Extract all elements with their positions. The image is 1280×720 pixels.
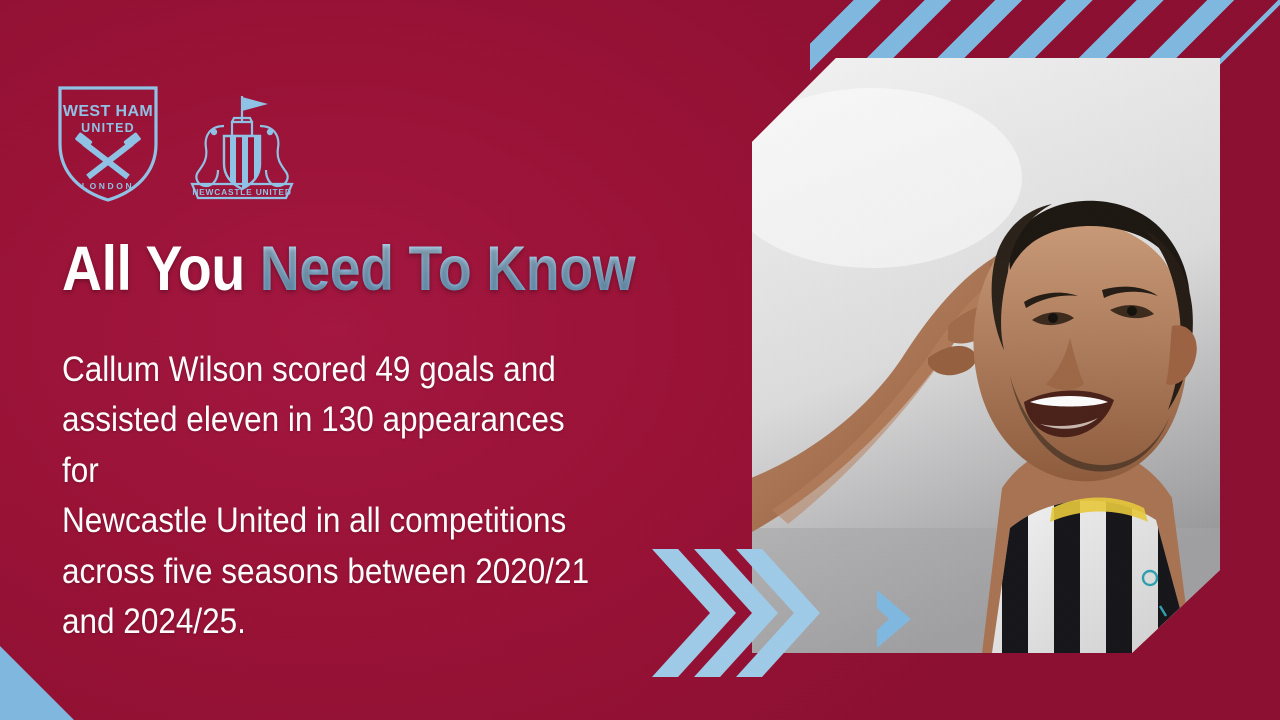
headline-part-white: All You xyxy=(62,234,245,304)
crest-row: WEST HAM UNITED LONDON xyxy=(56,82,300,204)
body-line-2: assisted eleven in 130 appearances for xyxy=(62,395,602,496)
body-line-3: Newcastle United in all competitions xyxy=(62,496,602,546)
body-copy: Callum Wilson scored 49 goals and assist… xyxy=(62,345,602,647)
body-line-4: across five seasons between 2020/21 xyxy=(62,547,602,597)
svg-text:WEST HAM: WEST HAM xyxy=(63,103,153,120)
newcastle-united-crest: NEWCASTLE UNITED xyxy=(184,92,300,204)
headline-part-blue: Need To Know xyxy=(260,234,636,304)
chevron-stack-decoration xyxy=(652,549,832,677)
body-line-5: and 2024/25. xyxy=(62,597,602,647)
body-line-1: Callum Wilson scored 49 goals and xyxy=(62,345,602,395)
graphic-canvas: WEST HAM UNITED LONDON xyxy=(0,0,1280,720)
svg-text:LONDON: LONDON xyxy=(82,181,134,191)
chevron-small-icon xyxy=(873,590,917,648)
svg-text:NEWCASTLE UNITED: NEWCASTLE UNITED xyxy=(192,187,291,197)
svg-text:UNITED: UNITED xyxy=(81,121,135,135)
west-ham-united-crest: WEST HAM UNITED LONDON xyxy=(56,82,160,204)
headline: All You Need To Know xyxy=(62,238,635,301)
